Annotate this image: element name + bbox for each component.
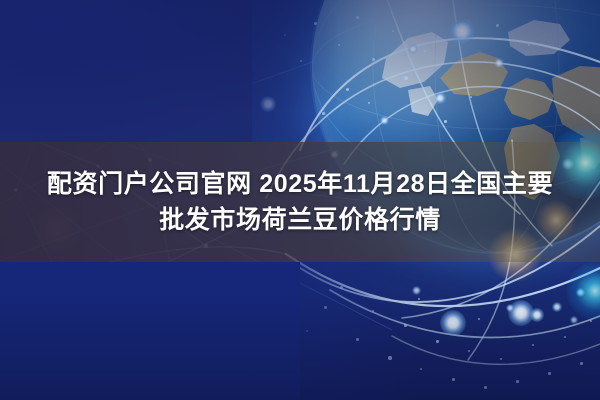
- title-line-2: 批发市场荷兰豆价格行情: [159, 205, 441, 236]
- banner-title: 配资门户公司官网 2025年11月28日全国主要 批发市场荷兰豆价格行情: [0, 142, 600, 262]
- title-line-1: 配资门户公司官网 2025年11月28日全国主要: [47, 169, 553, 200]
- banner-image: 配资门户公司官网 2025年11月28日全国主要 批发市场荷兰豆价格行情: [0, 0, 600, 400]
